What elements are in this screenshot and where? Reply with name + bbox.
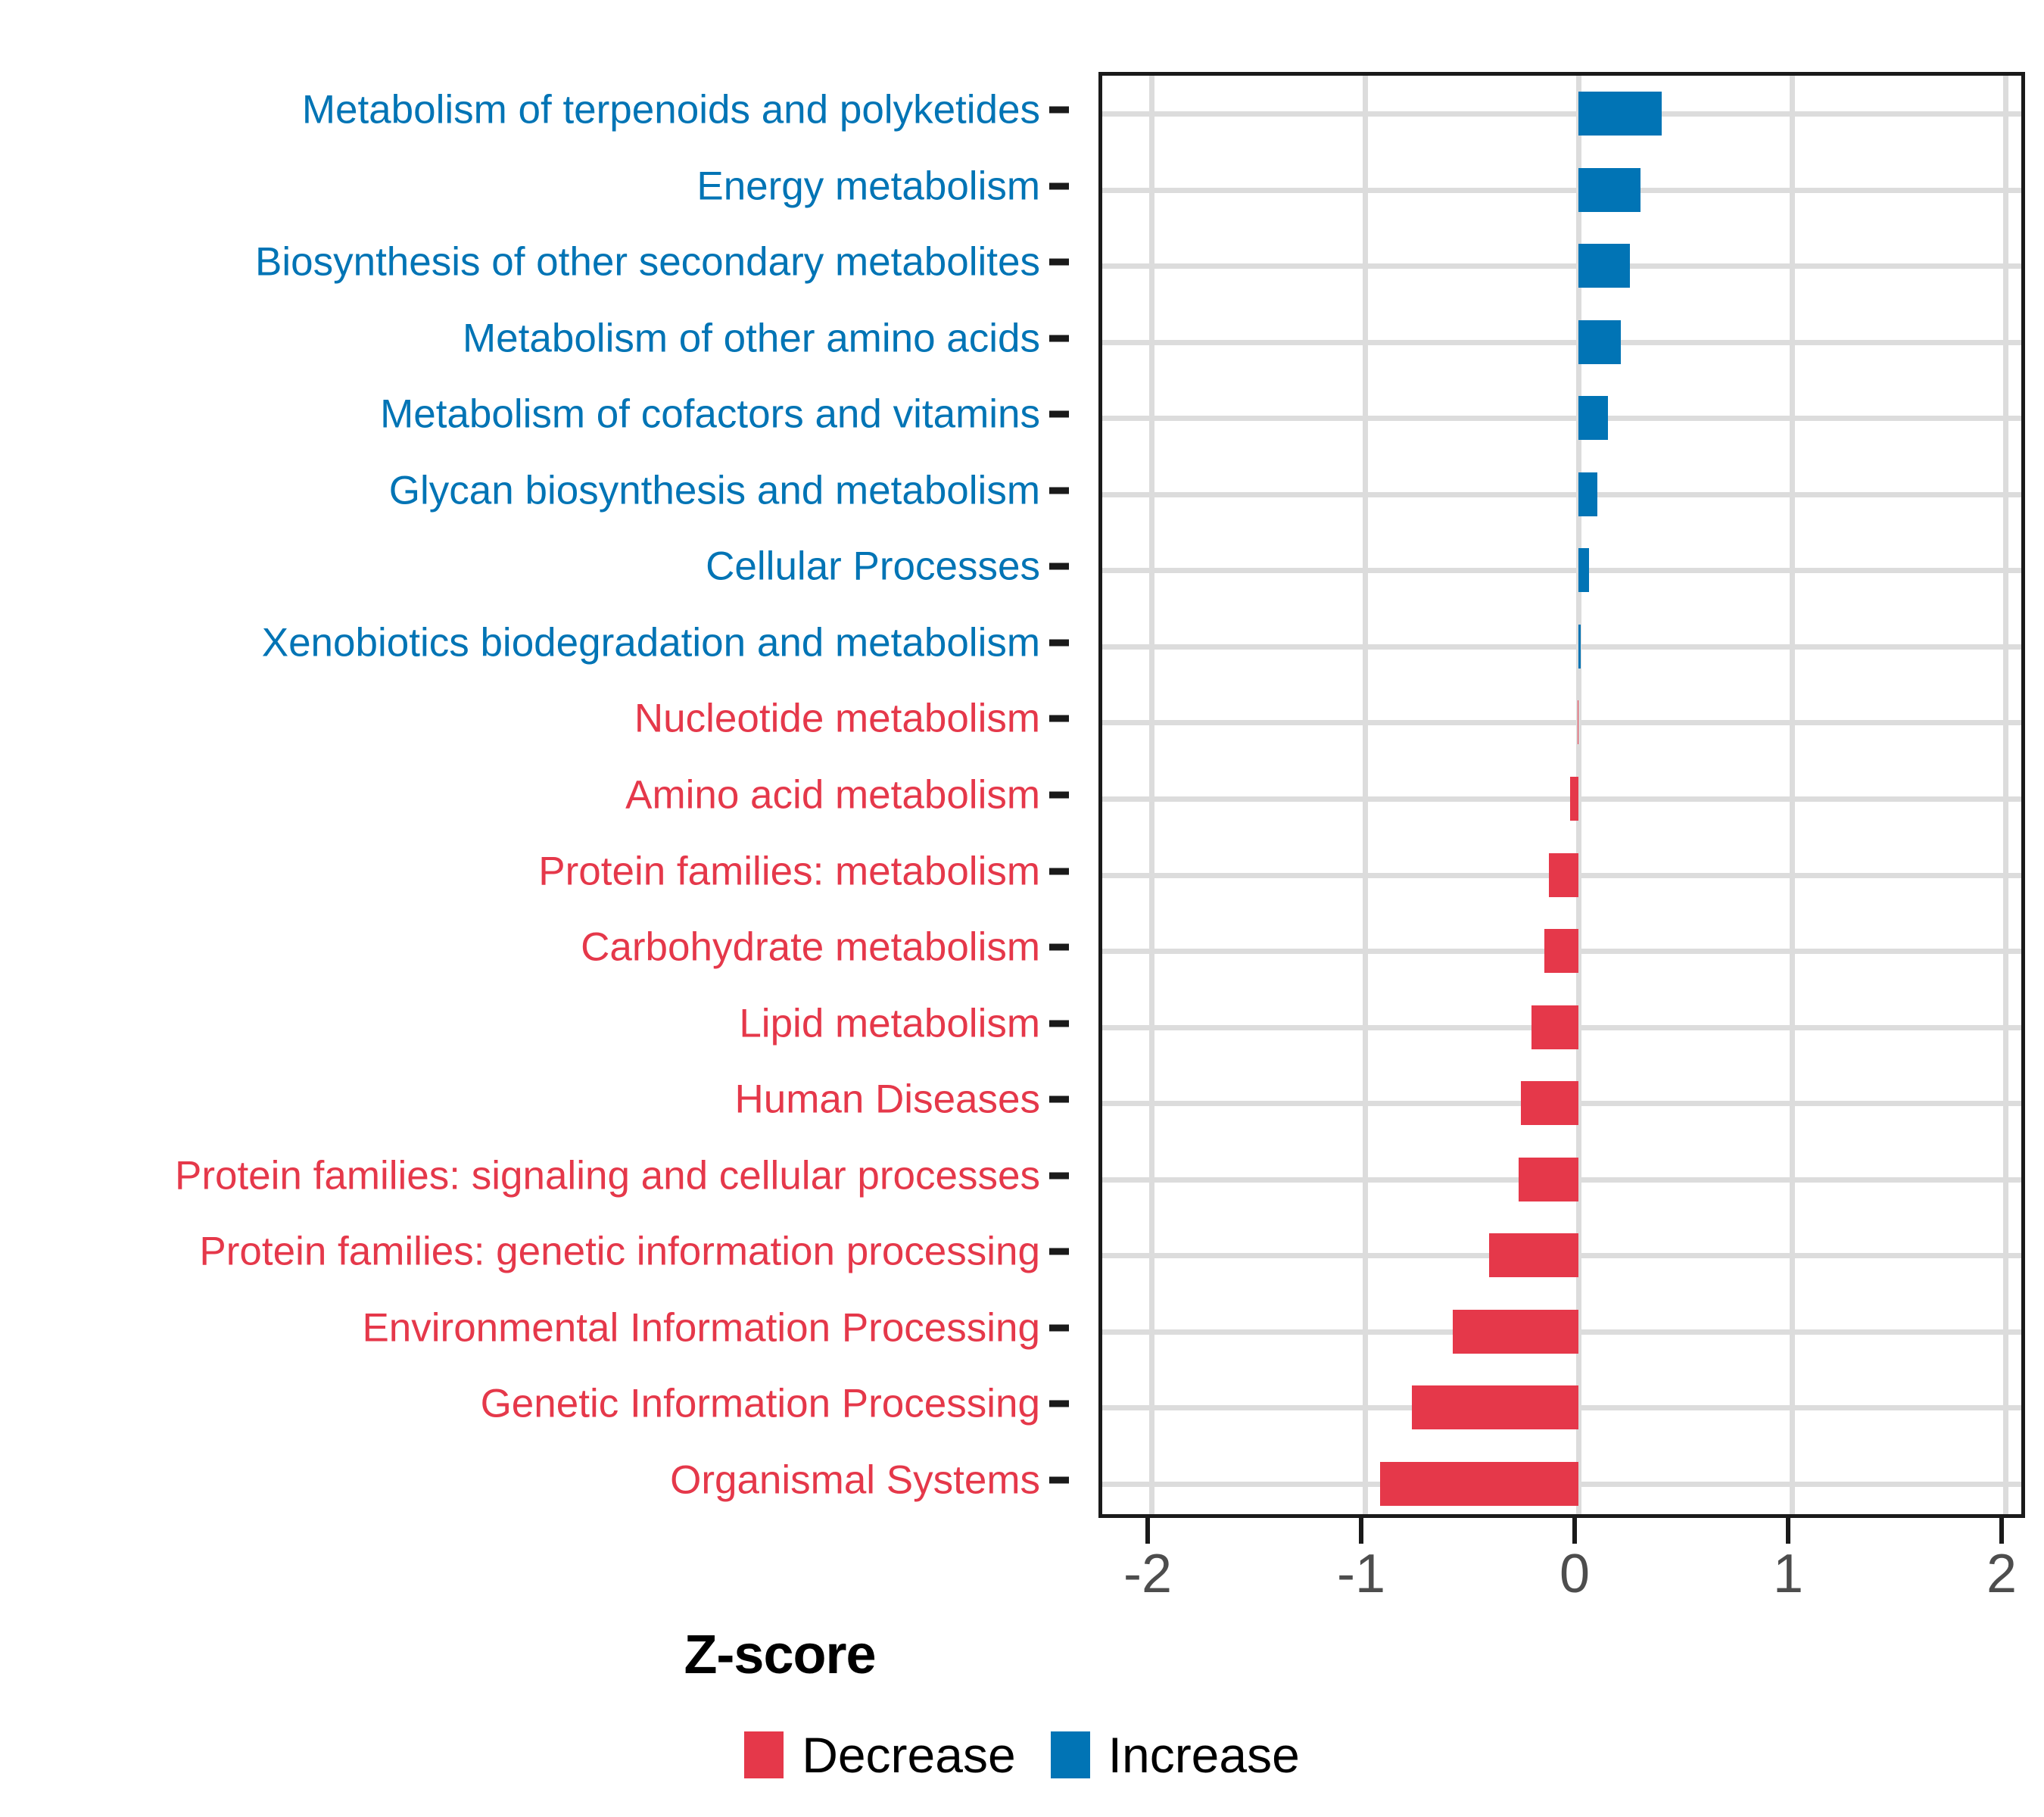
- x-axis-tick-label: -1: [1337, 1544, 1385, 1604]
- horizontal-gridline: [1102, 644, 2021, 650]
- y-axis-tick: [1049, 1476, 1069, 1483]
- y-axis-label: Xenobiotics biodegradation and metabolis…: [262, 622, 1040, 662]
- y-axis-tick: [1049, 944, 1069, 951]
- x-axis-tick-label: 0: [1559, 1544, 1590, 1604]
- y-axis-tick: [1049, 1172, 1069, 1179]
- y-axis-label: Lipid metabolism: [739, 1003, 1040, 1043]
- y-axis-tick: [1049, 868, 1069, 874]
- x-axis-tick: [1999, 1518, 2004, 1544]
- x-axis-title: Z-score: [0, 1624, 2044, 1686]
- y-axis-tick: [1049, 182, 1069, 189]
- horizontal-gridline: [1102, 340, 2021, 345]
- y-axis-label: Amino acid metabolism: [625, 775, 1040, 815]
- vertical-gridline: [1363, 76, 1368, 1514]
- y-axis-tick: [1049, 1324, 1069, 1331]
- bar-increase[interactable]: [1578, 168, 1640, 212]
- y-axis-label: Metabolism of terpenoids and polyketides: [302, 90, 1040, 130]
- y-axis-tick: [1049, 715, 1069, 722]
- horizontal-gridline: [1102, 263, 2021, 269]
- y-axis-tick: [1049, 487, 1069, 494]
- y-axis-label: Carbohydrate metabolism: [581, 927, 1040, 968]
- y-axis-labels: Metabolism of terpenoids and polyketides…: [0, 72, 1075, 1518]
- bar-decrease[interactable]: [1412, 1385, 1578, 1429]
- y-axis-label: Energy metabolism: [696, 166, 1040, 206]
- x-axis-tick: [1572, 1518, 1577, 1544]
- legend-swatch-increase-icon: [1051, 1731, 1090, 1778]
- bar-decrease[interactable]: [1380, 1462, 1578, 1506]
- horizontal-gridline: [1102, 188, 2021, 193]
- x-axis-tick: [1786, 1518, 1790, 1544]
- y-axis-label: Protein families: genetic information pr…: [199, 1232, 1040, 1272]
- y-axis-label: Environmental Information Processing: [362, 1307, 1040, 1348]
- horizontal-gridline: [1102, 568, 2021, 573]
- bar-decrease[interactable]: [1531, 1005, 1578, 1049]
- legend-label-increase: Increase: [1108, 1730, 1300, 1780]
- vertical-gridline: [2003, 76, 2008, 1514]
- plot-panel: [1098, 72, 2025, 1518]
- y-axis-label: Genetic Information Processing: [481, 1384, 1040, 1424]
- y-axis-tick: [1049, 639, 1069, 646]
- y-axis-tick: [1049, 1401, 1069, 1407]
- bar-increase[interactable]: [1578, 472, 1597, 516]
- horizontal-gridline: [1102, 720, 2021, 725]
- y-axis-label: Metabolism of cofactors and vitamins: [380, 394, 1040, 435]
- zscore-bar-chart: Metabolism of terpenoids and polyketides…: [0, 0, 2044, 1817]
- bar-increase[interactable]: [1578, 320, 1621, 364]
- bar-decrease[interactable]: [1489, 1233, 1578, 1277]
- bar-decrease[interactable]: [1521, 1081, 1578, 1125]
- y-axis-tick: [1049, 563, 1069, 570]
- y-axis-label: Cellular Processes: [706, 547, 1040, 587]
- bar-increase[interactable]: [1578, 244, 1630, 288]
- y-axis-tick: [1049, 411, 1069, 418]
- y-axis-tick: [1049, 1096, 1069, 1103]
- x-axis-ticks: [0, 1518, 2044, 1548]
- y-axis-label: Metabolism of other amino acids: [463, 318, 1040, 358]
- x-axis-tick-label: 2: [1986, 1544, 2017, 1604]
- y-axis-tick: [1049, 335, 1069, 341]
- legend-item-decrease[interactable]: Decrease: [744, 1730, 1015, 1780]
- vertical-gridline: [1149, 76, 1154, 1514]
- bar-decrease[interactable]: [1578, 700, 1578, 744]
- horizontal-gridline: [1102, 111, 2021, 117]
- legend: Decrease Increase: [0, 1730, 2044, 1780]
- y-axis-label: Protein families: metabolism: [538, 851, 1040, 891]
- bar-increase[interactable]: [1578, 396, 1608, 440]
- y-axis-tick: [1049, 107, 1069, 114]
- bar-increase[interactable]: [1578, 625, 1581, 669]
- x-axis-title-text: Z-score: [684, 1624, 875, 1686]
- y-axis-label: Glycan biosynthesis and metabolism: [389, 470, 1040, 510]
- x-axis-tick: [1145, 1518, 1150, 1544]
- horizontal-gridline: [1102, 796, 2021, 802]
- y-axis-label: Protein families: signaling and cellular…: [175, 1155, 1040, 1195]
- bar-increase[interactable]: [1578, 92, 1662, 136]
- bar-decrease[interactable]: [1519, 1158, 1578, 1201]
- y-axis-tick: [1049, 792, 1069, 799]
- y-axis-label: Nucleotide metabolism: [634, 699, 1040, 739]
- bar-increase[interactable]: [1578, 548, 1589, 592]
- y-axis-tick: [1049, 1248, 1069, 1255]
- legend-label-decrease: Decrease: [802, 1730, 1015, 1780]
- horizontal-gridline: [1102, 416, 2021, 421]
- y-axis-label: Organismal Systems: [670, 1460, 1040, 1500]
- vertical-gridline: [1790, 76, 1795, 1514]
- y-axis-label: Human Diseases: [734, 1080, 1040, 1120]
- bar-decrease[interactable]: [1453, 1310, 1578, 1354]
- x-axis-tick: [1359, 1518, 1363, 1544]
- legend-item-increase[interactable]: Increase: [1051, 1730, 1300, 1780]
- legend-swatch-decrease-icon: [744, 1731, 784, 1778]
- y-axis-tick: [1049, 259, 1069, 266]
- x-axis-tick-labels: -2-1012: [0, 1544, 2044, 1613]
- y-axis-tick: [1049, 1020, 1069, 1027]
- bar-decrease[interactable]: [1549, 853, 1578, 897]
- bar-decrease[interactable]: [1544, 929, 1578, 973]
- bar-decrease[interactable]: [1570, 777, 1578, 821]
- x-axis-tick-label: 1: [1773, 1544, 1803, 1604]
- horizontal-gridline: [1102, 492, 2021, 497]
- x-axis-tick-label: -2: [1123, 1544, 1172, 1604]
- y-axis-label: Biosynthesis of other secondary metaboli…: [255, 242, 1040, 282]
